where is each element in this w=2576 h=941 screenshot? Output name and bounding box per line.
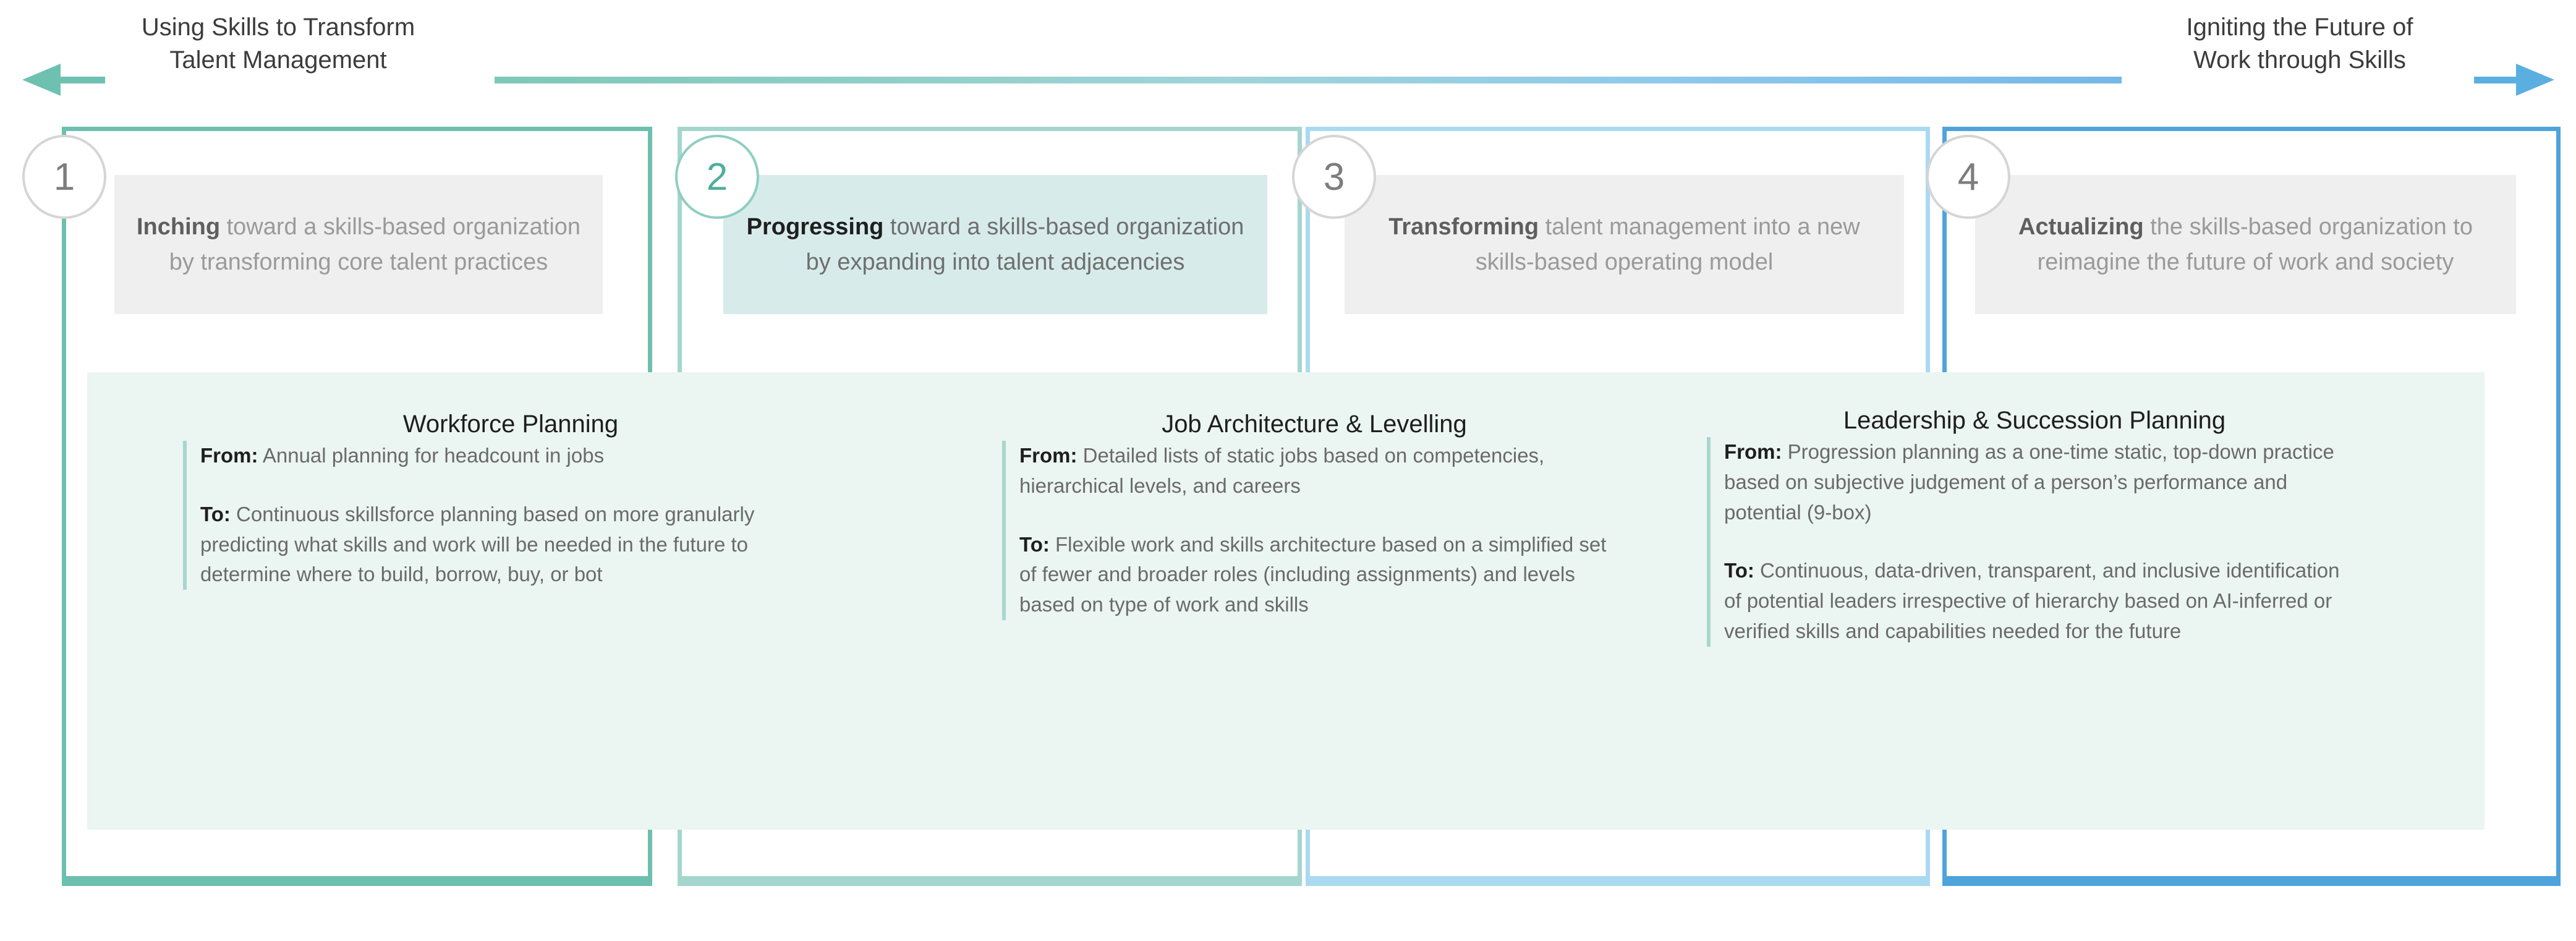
stage-number-badge-4[interactable]: 4 [1926,135,2010,219]
stage-card-1[interactable]: Inching toward a skills-based organizati… [114,175,603,314]
stage-number-badge-2[interactable]: 2 [675,135,759,219]
header-right-label: Igniting the Future of Work through Skil… [2120,11,2479,77]
practice-to-line: To: Continuous skillsforce planning base… [200,500,838,590]
stage-emphasis: Actualizing [2018,214,2144,240]
practice-body: From: Detailed lists of static jobs base… [1002,441,1626,620]
to-text: Continuous, data-driven, transparent, an… [1724,559,2339,642]
practice-title: Job Architecture & Levelling [1002,372,1626,438]
header-connector-line [495,77,2122,83]
stage-card-text: Progressing toward a skills-based organi… [741,210,1250,279]
stage-card-2[interactable]: Progressing toward a skills-based organi… [723,175,1267,314]
practice-to-line: To: Continuous, data-driven, transparent… [1724,556,2362,646]
practice-body: From: Progression planning as a one-time… [1707,437,2362,647]
to-text: Continuous skillsforce planning based on… [200,503,754,586]
stage-card-text: Transforming talent management into a ne… [1362,210,1887,279]
stage-card-3[interactable]: Transforming talent management into a ne… [1345,175,1904,314]
from-label: From: [1724,440,1782,463]
to-label: To: [1019,533,1050,556]
practice-block-leadership-and-succession-planning: Leadership & Succession Planning From: P… [1707,372,2362,647]
practice-to-line: To: Flexible work and skills architectur… [1019,530,1626,620]
practice-body: From: Annual planning for headcount in j… [183,441,838,590]
to-label: To: [1724,559,1754,582]
arrow-left-icon [22,64,61,96]
stage-card-text: Actualizing the skills-based organizatio… [1992,210,2499,279]
practice-from-line: From: Progression planning as a one-time… [1724,437,2362,527]
from-text: Progression planning as a one-time stati… [1724,440,2334,524]
stage-emphasis: Inching [137,214,220,240]
header-band: Using Skills to Transform Talent Managem… [0,0,2576,105]
from-label: From: [200,444,258,467]
stage-emphasis: Progressing [747,214,884,240]
stage-card-4[interactable]: Actualizing the skills-based organizatio… [1975,175,2516,314]
practice-block-job-architecture-and-levelling: Job Architecture & Levelling From: Detai… [1002,372,1626,620]
practice-from-line: From: Detailed lists of static jobs base… [1019,441,1626,501]
arrow-right-icon [2516,64,2554,96]
spacer [1724,527,2362,556]
spacer [200,471,838,500]
to-label: To: [200,503,231,526]
stage-number-badge-3[interactable]: 3 [1292,135,1376,219]
practices-panel: Workforce Planning From: Annual planning… [87,372,2485,830]
stage-card-text: Inching toward a skills-based organizati… [132,210,585,279]
stage-emphasis: Transforming [1388,214,1539,240]
from-text: Annual planning for headcount in jobs [258,444,605,467]
arrow-left-shaft [61,77,105,83]
to-text: Flexible work and skills architecture ba… [1019,533,1606,616]
stage-rest: toward a skills-based organization by tr… [169,214,580,275]
practice-title: Leadership & Succession Planning [1707,372,2362,435]
practice-block-workforce-planning: Workforce Planning From: Annual planning… [183,372,838,590]
stage-number-badge-1[interactable]: 1 [22,135,106,219]
from-text: Detailed lists of static jobs based on c… [1019,444,1544,497]
from-label: From: [1019,444,1078,467]
arrow-right-shaft [2474,77,2519,83]
spacer [1019,501,1626,530]
practice-title: Workforce Planning [183,372,838,438]
header-left-label: Using Skills to Transform Talent Managem… [99,11,457,77]
practice-from-line: From: Annual planning for headcount in j… [200,441,838,471]
